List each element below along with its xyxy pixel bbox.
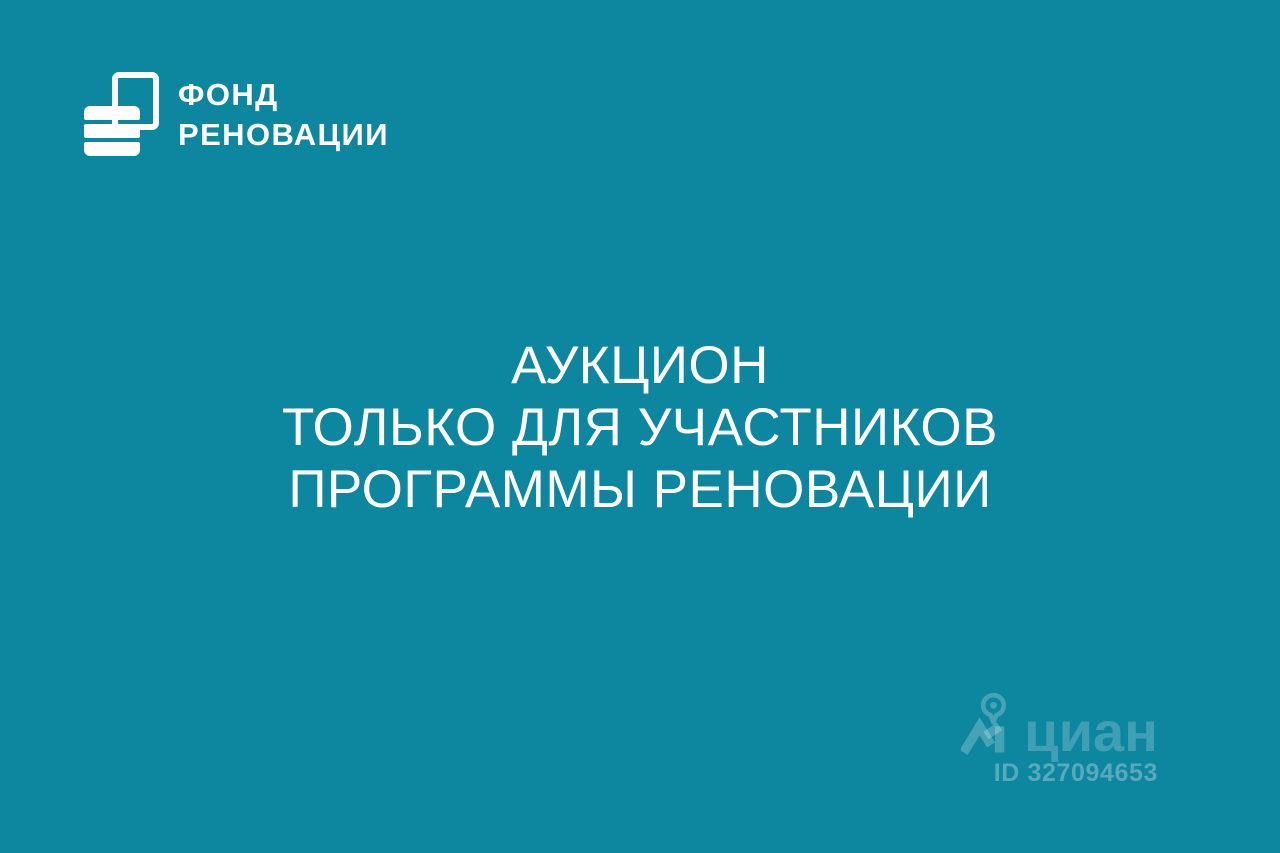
brand-logo: ФОНД РЕНОВАЦИИ	[84, 72, 389, 156]
auction-banner: ФОНД РЕНОВАЦИИ АУКЦИОН ТОЛЬКО ДЛЯ УЧАСТН…	[0, 0, 1280, 853]
headline-line-2: ТОЛЬКО ДЛЯ УЧАСТНИКОВ	[0, 397, 1280, 459]
stack-bar-top	[84, 106, 140, 120]
cian-wordmark: циан	[1024, 709, 1158, 755]
stack-bar-bottom	[84, 142, 140, 156]
brand-name-line-2: РЕНОВАЦИИ	[178, 119, 389, 150]
brand-name-line-1: ФОНД	[178, 79, 389, 110]
cian-watermark-row: циан	[961, 693, 1158, 755]
document-stack-icon	[84, 72, 159, 156]
headline-line-1: АУКЦИОН	[0, 335, 1280, 397]
headline-line-3: ПРОГРАММЫ РЕНОВАЦИИ	[0, 459, 1280, 521]
document-outline-shape	[112, 72, 159, 130]
stack-bar-middle	[84, 124, 140, 138]
brand-wordmark: ФОНД РЕНОВАЦИИ	[178, 79, 389, 150]
headline-block: АУКЦИОН ТОЛЬКО ДЛЯ УЧАСТНИКОВ ПРОГРАММЫ …	[0, 335, 1280, 521]
cian-pin-chevron-icon	[961, 693, 1015, 755]
cian-watermark: циан ID 327094653	[961, 693, 1158, 788]
listing-id-label: ID 327094653	[961, 759, 1158, 788]
